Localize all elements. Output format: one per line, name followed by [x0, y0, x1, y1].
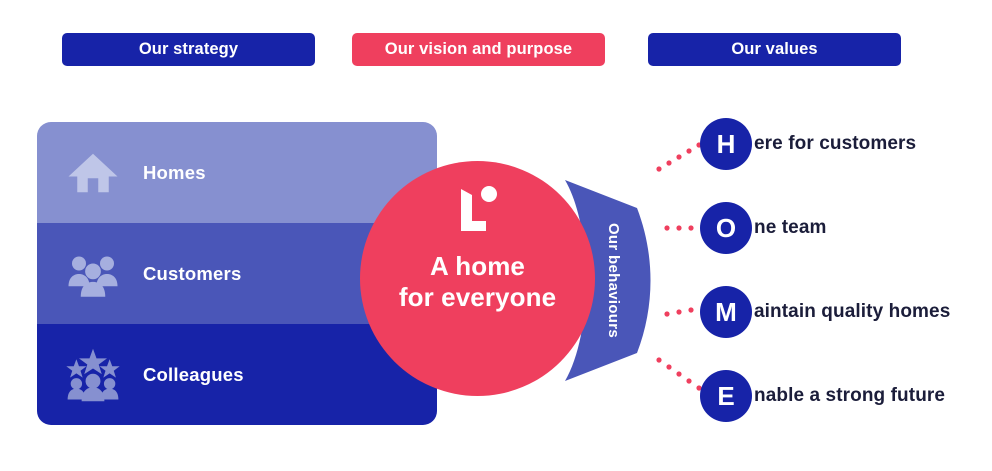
value-row-one-team[interactable]: O ne team: [700, 202, 827, 254]
connector-dots-maintain-quality-homes: [663, 302, 703, 322]
value-initial-badge: M: [700, 286, 752, 338]
value-text: ere for customers: [754, 133, 916, 155]
value-text: nable a strong future: [754, 385, 945, 407]
header-pill-our-vision-and-purpose[interactable]: Our vision and purpose: [352, 33, 605, 66]
vision-statement: A home for everyone: [399, 251, 556, 312]
header-pill-label: Our values: [731, 40, 817, 59]
value-text: aintain quality homes: [754, 301, 950, 323]
header-pill-label: Our vision and purpose: [385, 40, 572, 59]
value-initial-badge: H: [700, 118, 752, 170]
value-row-enable-a-strong-future[interactable]: E nable a strong future: [700, 370, 945, 422]
header-pill-label: Our strategy: [139, 40, 238, 59]
people-group-icon: [65, 246, 121, 302]
strategy-block-label: Homes: [143, 162, 206, 184]
vision-line-2: for everyone: [399, 282, 556, 313]
value-text: ne team: [754, 217, 827, 239]
value-row-here-for-customers[interactable]: H ere for customers: [700, 118, 916, 170]
value-row-maintain-quality-homes[interactable]: M aintain quality homes: [700, 286, 950, 338]
header-pill-our-strategy[interactable]: Our strategy: [62, 33, 315, 66]
vision-circle[interactable]: A home for everyone: [360, 161, 595, 396]
longhurst-l-logo-icon: [455, 183, 501, 235]
house-icon: [65, 145, 121, 201]
vision-line-1: A home: [399, 251, 556, 282]
value-initial-badge: E: [700, 370, 752, 422]
strategy-block-homes[interactable]: Homes: [37, 122, 437, 223]
infographic-canvas: Our strategy Our vision and purpose Our …: [0, 0, 992, 471]
people-stars-icon: [65, 347, 121, 403]
strategy-block-label: Customers: [143, 263, 241, 285]
connector-dots-one-team: [663, 218, 703, 238]
value-initial-badge: O: [700, 202, 752, 254]
strategy-block-label: Colleagues: [143, 364, 244, 386]
header-pill-our-values[interactable]: Our values: [648, 33, 901, 66]
